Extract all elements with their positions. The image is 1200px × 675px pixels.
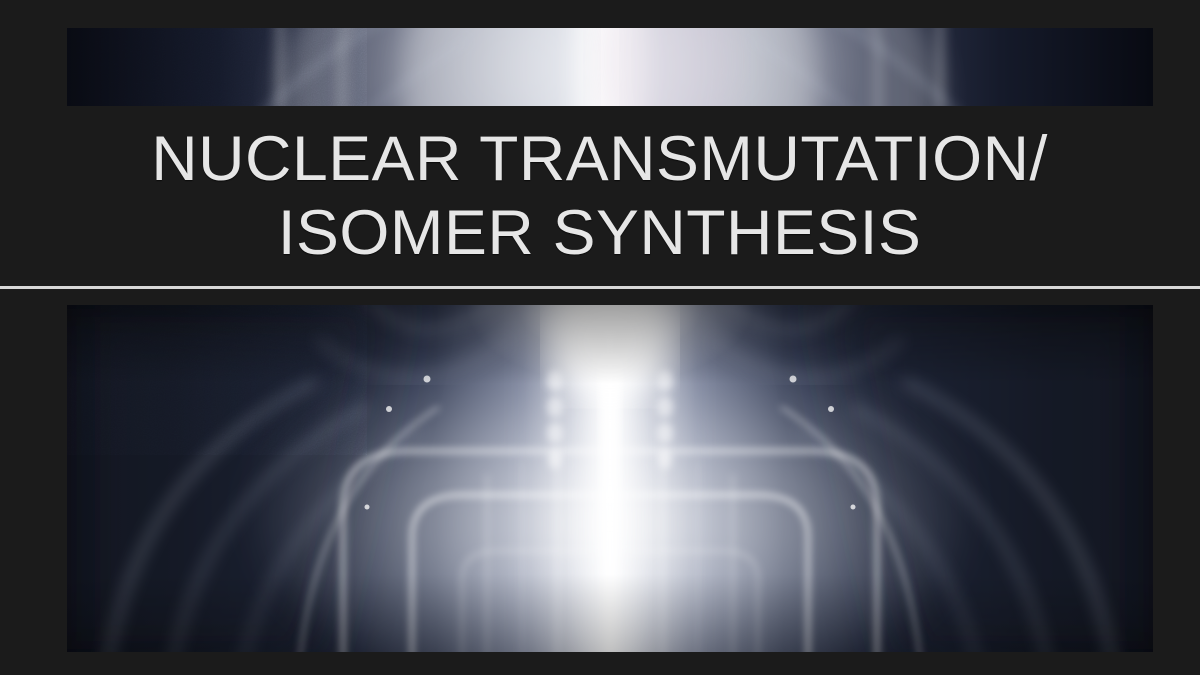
presentation-slide: NUCLEAR TRANSMUTATION/ ISOMER SYNTHESIS — [0, 0, 1200, 675]
banner-fractal-image — [67, 28, 1153, 106]
hero-art-svg — [67, 305, 1153, 652]
banner-art-svg — [67, 28, 1153, 106]
banner-art-canvas — [67, 28, 1153, 106]
horizontal-divider-line — [0, 286, 1200, 289]
title-line-1: NUCLEAR TRANSMUTATION/ — [152, 122, 1049, 196]
hero-art-canvas — [67, 305, 1153, 652]
title-line-2: ISOMER SYNTHESIS — [278, 196, 922, 270]
slide-title: NUCLEAR TRANSMUTATION/ ISOMER SYNTHESIS — [0, 112, 1200, 280]
hero-fractal-image — [67, 305, 1153, 652]
